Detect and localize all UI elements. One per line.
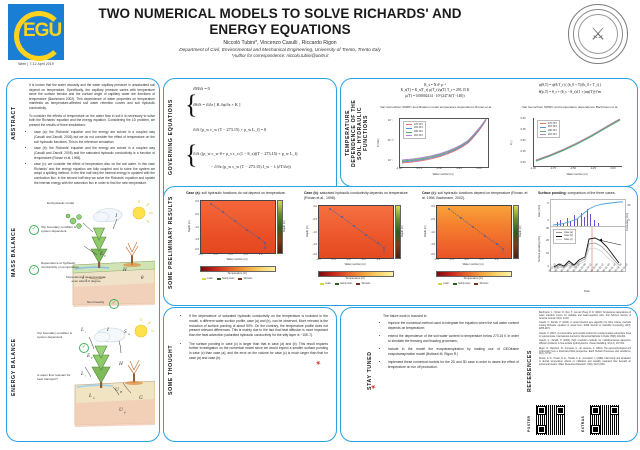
case-b-caption-text: : saturated hydraulic conductivity depen…	[304, 191, 408, 200]
xtick-case-c-1: -1.5	[445, 258, 458, 261]
soil-legend-b-2: Silt loam	[361, 283, 370, 285]
svg-text:G: G	[139, 395, 143, 401]
xtick-k-0: -1.00	[391, 167, 407, 170]
xtick-case-a-0: -2.0	[194, 253, 207, 256]
ytick-case-a-2: -1.0	[190, 226, 199, 229]
xtick-swrc-1: -0.75	[545, 167, 561, 170]
plot-area-k: 278.15 K 283.15 K 288.15 K 293.15 K	[399, 118, 489, 168]
temperature-dependence-panel: TEMPERATURE DEPENDENCE OF THE SOIL HYDRA…	[340, 78, 638, 187]
section-label-governing-equations: GOVERNING EQUATIONS	[168, 91, 174, 183]
governing-equations-body: { ∂M/∂t = 0 ∂θ/∂t = ∂/∂z [ K ∂ψ/∂z + K ]…	[185, 85, 331, 181]
case-a-caption-text: : soil hydraulic functions do not depend…	[200, 191, 286, 195]
reference-1: Bachmann, J., Horton, R., Ren, T., van d…	[539, 312, 631, 321]
ytick-case-a-1: -0.5	[190, 213, 199, 216]
surface-ponding-caption-text: : comparison of the three cases.	[566, 191, 616, 195]
xtick-case-a-1: -1.5	[209, 253, 222, 256]
swrc-chart: Van Genuchten SWRC and temperature depen…	[509, 105, 629, 181]
thoughts-panel: SOME THOUGHT If the dependence of satura…	[163, 307, 337, 442]
svg-text:H: H	[122, 268, 127, 273]
references-list: Bachmann, J., Horton, R., Ren, T., van d…	[539, 312, 631, 368]
legend-item-swrc-1: 283.15 K	[548, 126, 557, 128]
legend-swrc: 278.15 K 283.15 K 288.15 K 293.15 K	[537, 120, 560, 138]
chart-title-swrc: Van Genuchten SWRC and temperature depen…	[513, 105, 627, 109]
xlabel-case-b: Water suction [m]	[318, 263, 392, 266]
equation-energy-2: ∂/∂t ((ρ_w c_w θ + ρ_s c_s (1 − θ_s))(T …	[193, 151, 297, 157]
qr-code-extras[interactable]	[589, 404, 621, 436]
thought-bullet-2: The surface ponding in case (c) is large…	[189, 342, 328, 361]
legend-k: 278.15 K 283.15 K 288.15 K 293.15 K	[403, 121, 426, 139]
abstract-bullet-b: case (b): the Richards' equation and the…	[34, 146, 155, 160]
svg-text:w: w	[128, 332, 130, 336]
eq-mu-T: μ(T) = 0.00002414 · 10^(247.8/(T−140))	[375, 94, 495, 99]
soil-legend-b-1: Sandy loam	[340, 283, 352, 285]
results-panel: SOME PRELIMINARY RESULTS Case (a): soil …	[163, 186, 638, 306]
tdep-equations-left: K_s = N d² ρ⁻¹ K_s(T) = K_s(T_r) μ(T_r)/…	[375, 83, 495, 99]
svg-text:I: I	[106, 327, 109, 333]
ytick-cum-1: 50	[625, 204, 633, 207]
svg-text:L: L	[88, 393, 92, 399]
svg-text:T: T	[104, 254, 106, 258]
legend-item-k-1: 283.15 K	[414, 127, 423, 129]
case-c-block: Case (c): soil hydraulic functions depen…	[422, 191, 532, 293]
qr-code-poster[interactable]	[535, 404, 567, 436]
surface-ponding-caption: Surface ponding: comparison of the three…	[538, 191, 634, 196]
legend-item-swrc-2: 288.15 K	[548, 130, 557, 132]
xlabel-k: Water suction [m]	[399, 173, 487, 176]
university-seal-icon: ⚔	[568, 4, 628, 64]
xlabel-case-a: Water suction [m]	[200, 258, 274, 261]
svg-text:E: E	[99, 252, 103, 257]
ylabel-k: K [m/s]	[377, 131, 380, 155]
ytick-rain-0: 0	[542, 219, 549, 222]
plot-area-case-b	[318, 205, 394, 259]
abstract-bullet-a: case (a): the Richards' equation and the…	[34, 130, 155, 144]
legend-item-swrc-0: 278.15 K	[548, 123, 557, 125]
case-a-block: Case (a): soil hydraulic functions do no…	[186, 191, 296, 288]
stamp-icon-next: ✶	[370, 383, 377, 391]
eq-psi-T: ψ(θ,T) = ψ(θ,T_r) ( (b_0 + T)/(b_0 + T_r…	[509, 83, 631, 88]
ytick-case-a-3: -1.5	[190, 238, 199, 241]
svg-text:↑: ↑	[85, 374, 87, 378]
xtick-case-b-1: -1.5	[327, 258, 340, 261]
check-icon-hyd-cond: ✓	[29, 265, 39, 275]
xtick-k-2: -0.50	[431, 167, 447, 170]
chart-title-k: Van Genuchten SWRC and Mualem model temp…	[379, 105, 493, 109]
legend-ponding-1: Case (b)	[564, 235, 573, 237]
reference-2: Casulli, V., Zanolli, P. (2010). A neste…	[539, 322, 631, 331]
correspondence: *Author for correspondence: niccolo.tubi…	[80, 53, 480, 59]
case-a-chart: Depth [m] Depth [m] 0.0 -0.5 -1.0 -1.5 -…	[186, 198, 296, 290]
ytick-case-c-4: -2.0	[426, 253, 435, 256]
next-bullet-1: improve the numerical method used to int…	[388, 321, 519, 331]
svg-text:S: S	[124, 329, 127, 335]
abstract-bullet-c: case (c): we consider the effect of temp…	[34, 162, 155, 185]
ytick-pond-1: 10	[541, 252, 549, 255]
equation-mass-2: ∂θ/∂t = ∂/∂z [ K ∂ψ/∂z + K ]	[193, 102, 240, 108]
next-steps-intro: The future work is focused to	[383, 314, 519, 318]
note-top-boundary-condition: Top boundary condition is system depende…	[41, 225, 85, 233]
surface-ponding-chart: Rain [mm] Surface ponding [mm] Cumulate …	[538, 198, 634, 296]
surface-ponding-block: Surface ponding: comparison of the three…	[538, 191, 634, 294]
section-label-temperature-dependence: TEMPERATURE DEPENDENCE OF THE SOIL HYDRA…	[345, 97, 357, 169]
case-b-block: Case (b): saturated hydraulic conductivi…	[304, 191, 414, 293]
xtick-swrc-3: -0.25	[585, 167, 601, 170]
ytick-pond-0: 0	[541, 265, 549, 268]
svg-text:↓: ↓	[85, 330, 87, 334]
ytick-case-c-1: -0.5	[426, 218, 435, 221]
case-b-caption: Case (b): saturated hydraulic conductivi…	[304, 191, 414, 201]
note-hydraulic-conductivity: Dependence of hydraulic conductivity on …	[41, 261, 85, 269]
xtick-case-b-3: -0.5	[357, 258, 370, 261]
legend-item-k-0: 278.15 K	[414, 124, 423, 126]
soil-legend-c-2: Silt loam	[479, 283, 488, 285]
ytick-swrc-3: 0.35	[515, 128, 531, 131]
ponding-xticks: 05-26 12 05-27 00 05-27 12 05-28 00 05-2…	[550, 271, 624, 285]
case-b-temp-label: Temperature [C]	[318, 277, 392, 280]
xtick-case-c-3: -0.5	[475, 258, 488, 261]
left-column-panel: ABSTRACT MASS BALANCE ENERGY BALANCE It …	[6, 78, 160, 442]
poster-root: EGU Wien | 7-12 April 2019 TWO NUMERICAL…	[0, 0, 640, 450]
author-list: Niccolò Tubini*, Vincenzo Casulli , Ricc…	[80, 40, 480, 59]
mass-balance-sketch: J ET JS H θ	[27, 199, 155, 307]
next-steps-content: The future work is focused to improve th…	[383, 314, 519, 374]
soil-legend-b-0: Loam	[325, 283, 331, 285]
equation-mass-1: ∂M/∂t = 0	[193, 86, 210, 92]
equation-energy-3: − ∂/∂z (ρ_w c_w (T − 273.15) J_w − λ (∂T…	[211, 164, 291, 170]
xlabel-ponding: Date	[550, 290, 624, 293]
page-title: TWO NUMERICAL MODELS TO SOLVE RICHARDS' …	[80, 6, 480, 38]
reference-6: Ronan, A. D., Prudic, D. E., Thodal, C. …	[539, 358, 631, 367]
xtick-case-c-2: -1.0	[460, 258, 473, 261]
authors-names: Niccolò Tubini*, Vincenzo Casulli , Ricc…	[80, 40, 480, 47]
hydraulic-conductivity-chart: Van Genuchten SWRC and Mualem model temp…	[375, 105, 495, 181]
case-c-label: Case (c)	[422, 191, 436, 195]
abstract-paragraph-1: It is known that the water viscosity and…	[29, 83, 155, 111]
case-c-caption: Case (c): soil hydraulic functions depen…	[422, 191, 532, 201]
egu-logo: EGU	[8, 4, 64, 60]
ytick-case-a-0: 0.0	[190, 200, 199, 203]
thought-bullet-1: If the dependence of saturated hydraulic…	[189, 314, 328, 338]
xtick-k-4: 0.00	[471, 167, 487, 170]
ytick-rain-1: 5	[542, 202, 549, 205]
svg-text:T: T	[91, 356, 93, 360]
case-b-soil-legend: Loam Sandy loam Silt loam	[320, 283, 370, 285]
note-nonlinearity: Non linearity	[87, 300, 111, 304]
xlabel-case-c: Water suction [m]	[436, 263, 510, 266]
plot-area-swrc: 278.15 K 283.15 K 288.15 K 293.15 K	[533, 118, 622, 167]
xtick-case-b-0: -2.0	[312, 258, 325, 261]
note-above-zero: Dependence on temperature even above 0 d…	[65, 275, 107, 283]
ytick-swrc-0: 0.20	[515, 161, 531, 164]
next-bullet-2: extend the dependence of the soil water …	[388, 334, 519, 344]
reference-3: Casulli, V. (2017). A conservative semi-…	[539, 333, 631, 339]
xtick-swrc-2: -0.50	[565, 167, 581, 170]
thoughts-list: If the dependence of saturated hydraulic…	[184, 314, 328, 364]
case-c-soil-legend: Loam Sandy loam Silt loam	[438, 283, 488, 285]
xtick-case-a-2: -1.0	[224, 253, 237, 256]
soil-legend-c-0: Loam	[443, 283, 449, 285]
xtick-case-a-4: 0.0	[254, 253, 267, 256]
xtick-case-c-0: -2.0	[430, 258, 443, 261]
case-a-caption: Case (a): soil hydraulic functions do no…	[186, 191, 296, 196]
ylabel-swrc: θ [-]	[510, 133, 513, 153]
soil-legend-2: Silt loam	[243, 278, 252, 280]
tdep-equations-right: ψ(θ,T) = ψ(θ,T_r) ( (b_0 + T)/(b_0 + T_r…	[509, 83, 631, 96]
xtick-swrc-4: 0.00	[605, 167, 621, 170]
ytick-case-c-3: -1.5	[426, 243, 435, 246]
case-a-depth-label: Depth [m]	[283, 210, 286, 242]
case-c-temp-label: Temperature [C]	[436, 277, 510, 280]
section-label-mass-balance: MASS BALANCE	[11, 217, 17, 287]
ytick-case-b-4: -2.0	[308, 253, 317, 256]
svg-text:L: L	[80, 371, 84, 377]
ytick-case-a-4: -2.0	[190, 248, 199, 251]
ytick-swrc-2: 0.30	[515, 139, 531, 142]
ytick-k-2: 10⁻⁵	[383, 159, 398, 162]
check-icon-top-bc: ✓	[29, 225, 39, 235]
ytick-cum-0: 0	[625, 219, 633, 222]
xtick-case-a-3: -0.5	[239, 253, 252, 256]
ylabel-rain: Rain [mm]	[538, 200, 541, 222]
case-b-depth-label: Depth [m]	[401, 215, 404, 247]
section-label-results: SOME PRELIMINARY RESULTS	[168, 203, 174, 289]
case-b-label: Case (b)	[304, 191, 318, 195]
reference-5: Rigon, R., Bancheri, M., Formetta, G., d…	[539, 348, 631, 357]
next-steps-list: improve the numerical method used to int…	[383, 321, 519, 370]
energy-balance-figure: L↓ I Sw ET H L↑ Ln UH G Ug Top boundary …	[27, 315, 155, 427]
xtick-k-1: -0.75	[411, 167, 427, 170]
equation-energy-1: ∂/∂t [ρ_w c_w (T − 273.15) + ρ_w L_f] = …	[193, 127, 266, 133]
next-steps-panel: STAY TUNED The future work is focused to…	[340, 307, 638, 442]
ytick-case-b-3: -1.5	[308, 243, 317, 246]
plot-area-case-c	[436, 205, 512, 259]
note-ecohydraulic-model: Ecohydraulic model	[47, 201, 97, 205]
mass-balance-figure: J ET JS H θ Ecohydraulic model Top bound…	[27, 199, 155, 307]
xlabel-swrc: Water suction [m]	[533, 173, 621, 176]
section-label-thoughts: SOME THOUGHT	[168, 338, 174, 402]
section-label-energy-balance: ENERGY BALANCE	[11, 327, 17, 407]
ytick-case-b-0: 0.0	[308, 205, 317, 208]
case-a-temp-label: Temperature [C]	[200, 272, 274, 275]
xtick-swrc-0: -1.00	[525, 167, 541, 170]
case-b-chart: Depth [m] Depth [m] 0.0 -0.5 -1.0 -1.5 -…	[304, 203, 414, 295]
note-water-flow-heat: Is water flow relevant for heat transpor…	[37, 373, 77, 381]
case-a-label: Case (a)	[186, 191, 200, 195]
ytick-case-b-1: -0.5	[308, 218, 317, 221]
legend-ponding-2: Case (c)	[564, 239, 573, 241]
next-bullet-3: include in the model the evapotranspirat…	[388, 347, 519, 357]
ytick-case-c-2: -1.0	[426, 231, 435, 234]
ylabel-ponding: Surface ponding [mm]	[538, 230, 541, 268]
soil-legend-0: Loam	[207, 278, 213, 280]
ytick-swrc-4: 0.40	[515, 117, 531, 120]
ytick-pond-3: 30	[541, 227, 549, 230]
section-label-references: REFERENCES	[527, 342, 533, 400]
section-label-abstract: ABSTRACT	[11, 95, 17, 151]
eq-theta-psi-T: θ(ψ,T) = θ_r + (θ_s − θ_r)/(1 + |αψ(T)|ⁿ…	[509, 90, 631, 95]
legend-item-k-2: 288.15 K	[414, 131, 423, 133]
note-energy-top-bc: Top boundary condition is system depende…	[37, 331, 81, 339]
xtick-case-b-4: 0.0	[372, 258, 385, 261]
egu-wordmark: EGU	[23, 20, 61, 42]
reference-4: Casulli, V., Zanolli, P. (2005). High re…	[539, 340, 631, 346]
case-c-chart: Depth [m] Depth [m] 0.0 -0.5 -1.0 -1.5 -…	[422, 203, 532, 295]
ytick-swrc-1: 0.25	[515, 150, 531, 153]
ylabel-cumulate: Cumulate [mm]	[626, 204, 629, 240]
surface-ponding-label: Surface ponding	[538, 191, 566, 195]
ytick-k-0: 10⁻⁴	[383, 119, 398, 122]
case-c-caption-text: : soil hydraulic functions depend on tem…	[422, 191, 527, 200]
qr-poster-label: POSTER	[527, 406, 531, 432]
abstract-paragraph-2: To consider the effects of temperature o…	[29, 114, 155, 128]
soil-legend-1: Sandy loam	[222, 278, 234, 280]
case-c-depth-label: Depth [m]	[519, 215, 522, 247]
next-bullet-4: implement these numerical models for the…	[388, 360, 519, 370]
ytick-k-1: 10⁻¹⁰	[383, 139, 398, 142]
xtick-case-c-4: 0.0	[490, 258, 503, 261]
poster-header: EGU Wien | 7-12 April 2019 TWO NUMERICAL…	[0, 0, 640, 74]
plot-area-case-a	[200, 200, 276, 254]
soil-legend-c-1: Sandy loam	[458, 283, 470, 285]
ytick-case-b-2: -1.0	[308, 231, 317, 234]
check-icon-energy-top-bc: ✓	[79, 343, 89, 353]
legend-ponding: Case (a) Case (b) Case (c)	[553, 229, 576, 244]
xtick-case-b-2: -1.0	[342, 258, 355, 261]
qr-extras-label: EXTRAS	[581, 406, 585, 432]
legend-item-swrc-3: 293.15 K	[548, 134, 557, 136]
abstract-text: It is known that the water viscosity and…	[29, 83, 155, 187]
ytick-pond-2: 20	[541, 239, 549, 242]
plot-area-rain	[550, 199, 626, 227]
legend-ponding-0: Case (a)	[564, 232, 573, 234]
svg-text:H: H	[118, 361, 123, 367]
conference-caption: Wien | 7-12 April 2019	[6, 62, 66, 66]
xtick-k-3: -0.25	[451, 167, 467, 170]
legend-item-k-3: 293.15 K	[414, 135, 423, 137]
section-label-stay-tuned: STAY TUNED	[367, 336, 373, 406]
case-a-soil-legend: Loam Sandy loam Silt loam	[202, 278, 252, 280]
ytick-case-c-0: 0.0	[426, 205, 435, 208]
